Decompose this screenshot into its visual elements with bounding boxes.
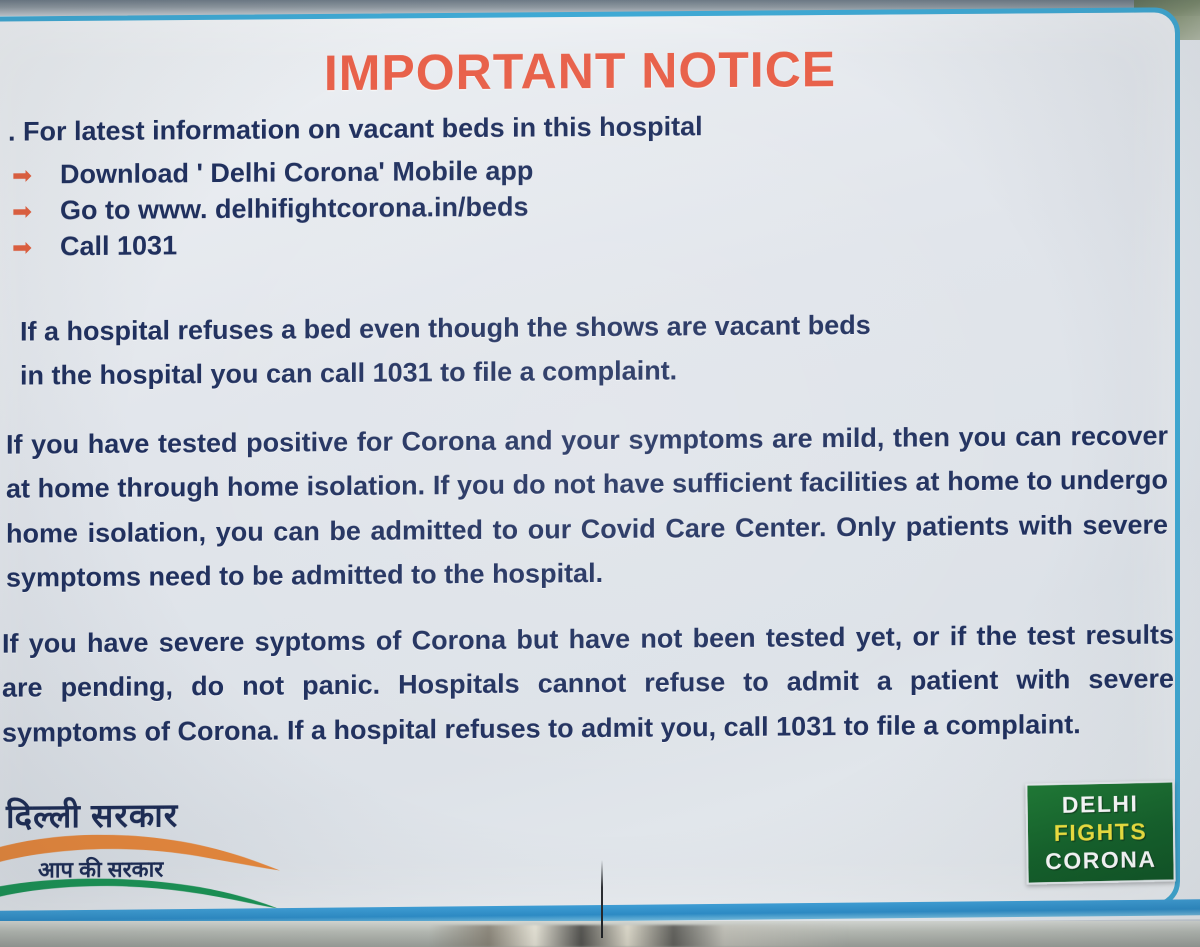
arrow-right-icon: ➡ <box>12 164 60 188</box>
lead-instruction-line: . For latest information on vacant beds … <box>8 111 703 147</box>
list-item-label: Download ' Delhi Corona' Mobile app <box>60 156 533 191</box>
arrow-right-icon: ➡ <box>12 200 60 224</box>
badge-line-corona: CORONA <box>1045 846 1157 875</box>
list-item-label: Go to www. delhifightcorona.in/beds <box>60 192 529 227</box>
instruction-bullet-list: ➡ Download ' Delhi Corona' Mobile app ➡ … <box>12 156 533 268</box>
paragraph-severe-symptoms: If you have severe syptoms of Corona but… <box>2 612 1174 754</box>
ground-objects <box>430 925 850 947</box>
list-item: ➡ Call 1031 <box>12 228 533 268</box>
antenna-pole <box>601 860 603 938</box>
delhi-sarkar-logo: दिल्ली सरकार आप की सरकार <box>0 790 320 913</box>
delhi-fights-corona-badge: DELHI FIGHTS CORONA <box>1025 780 1175 884</box>
paragraph-refusal-complaint: If a hospital refuses a bed even though … <box>20 303 880 398</box>
page-title: IMPORTANT NOTICE <box>0 38 1160 105</box>
list-item: ➡ Go to www. delhifightcorona.in/beds <box>12 192 533 232</box>
gov-logo-sub-text: आप की सरकार <box>38 853 163 884</box>
lead-marker: . <box>8 117 16 147</box>
list-item-label: Call 1031 <box>60 230 177 262</box>
arrow-right-icon: ➡ <box>12 236 60 260</box>
list-item: ➡ Download ' Delhi Corona' Mobile app <box>12 156 533 196</box>
badge-line-delhi: DELHI <box>1062 790 1139 819</box>
notice-content: IMPORTANT NOTICE . For latest informatio… <box>0 0 1200 947</box>
badge-line-fights: FIGHTS <box>1054 818 1148 847</box>
photograph-of-hospital-notice-board: IMPORTANT NOTICE . For latest informatio… <box>0 0 1200 947</box>
lead-instruction-text: For latest information on vacant beds in… <box>23 111 703 146</box>
paragraph-home-isolation: If you have tested positive for Corona a… <box>6 414 1168 600</box>
